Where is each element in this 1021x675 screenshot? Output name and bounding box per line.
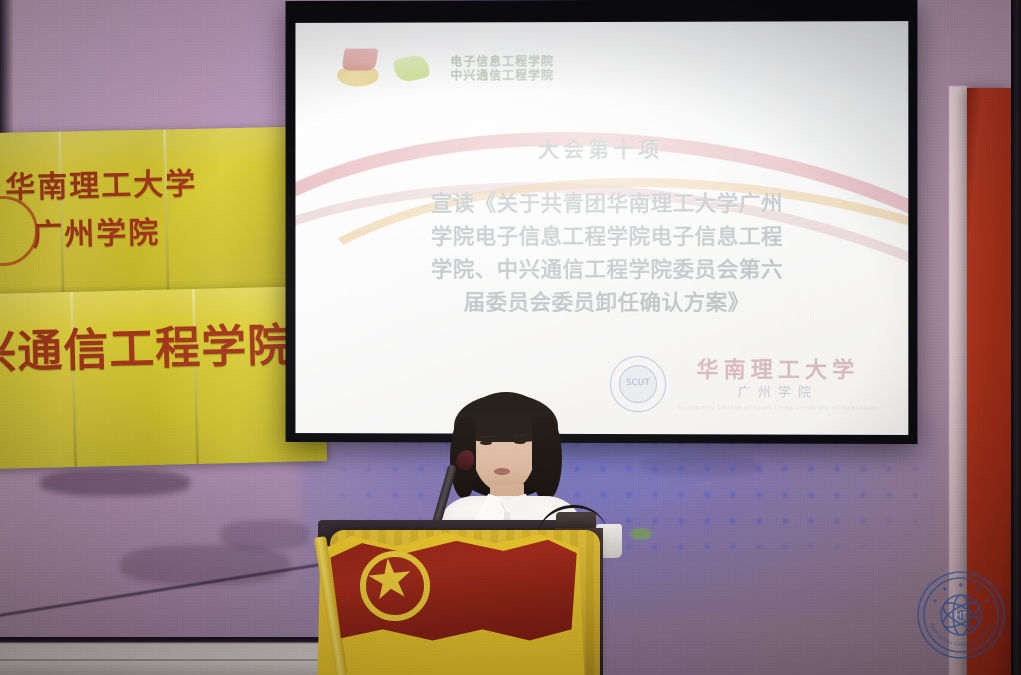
photo-vignette [0,0,1021,675]
photo-scene: 华南理工大学 广州学院 兴通信工程学院 电子信息工程学院 中兴通信工 [0,0,1021,675]
